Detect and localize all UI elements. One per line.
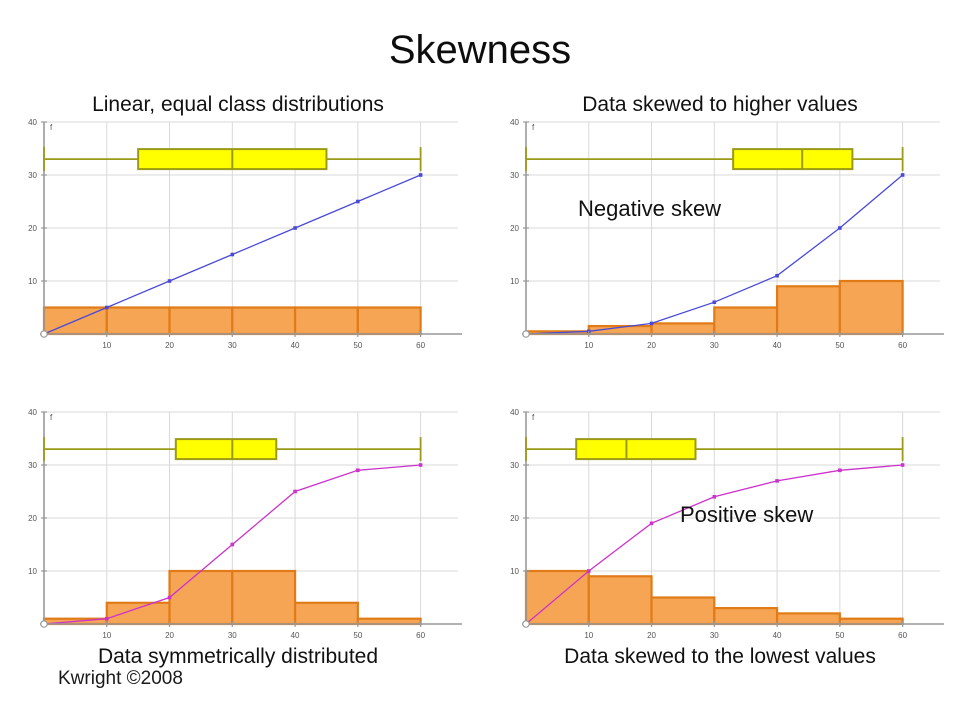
histogram-bar	[170, 571, 233, 624]
x-tick-label: 20	[647, 631, 656, 640]
data-point	[231, 543, 235, 547]
chart-panel-top-left: Linear, equal class distributions 102030…	[8, 92, 468, 377]
histogram-bar	[170, 308, 233, 335]
y-tick-label: 20	[510, 514, 519, 523]
histogram-bar	[777, 613, 840, 624]
x-tick-label: 20	[165, 631, 174, 640]
plot-top-left: 10203040102030405060f	[8, 114, 468, 364]
y-tick-label: 40	[28, 408, 37, 417]
boxplot	[44, 437, 421, 461]
x-tick-label: 10	[584, 341, 593, 350]
x-tick-label: 40	[773, 341, 782, 350]
x-tick-label: 30	[710, 341, 719, 350]
chart-panel-bottom-left: 10203040102030405060f Data symmetrically…	[8, 382, 468, 667]
data-point	[775, 479, 779, 483]
y-tick-label: 20	[28, 224, 37, 233]
x-tick-label: 60	[416, 631, 425, 640]
x-tick-label: 50	[835, 341, 844, 350]
x-tick-label: 50	[835, 631, 844, 640]
x-tick-label: 10	[102, 631, 111, 640]
slide-canvas: Skewness Linear, equal class distributio…	[0, 0, 960, 720]
histogram-bar	[295, 603, 358, 624]
histogram-bar	[232, 308, 295, 335]
annotation-positive-skew: Positive skew	[680, 502, 813, 528]
x-tick-label: 50	[353, 341, 362, 350]
data-point	[419, 463, 423, 467]
data-point	[901, 173, 905, 177]
y-tick-label: 20	[28, 514, 37, 523]
page-title: Skewness	[0, 26, 960, 74]
data-point	[419, 173, 423, 177]
y-tick-label: 10	[510, 567, 519, 576]
y-tick-label: 40	[28, 118, 37, 127]
x-tick-label: 60	[898, 631, 907, 640]
chart-caption-bottom-right: Data skewed to the lowest values	[490, 644, 950, 669]
y-axis-label: f	[50, 413, 53, 422]
boxplot-box	[576, 439, 695, 459]
y-tick-label: 20	[510, 224, 519, 233]
x-tick-label: 20	[647, 341, 656, 350]
x-tick-label: 40	[773, 631, 782, 640]
y-tick-label: 10	[510, 277, 519, 286]
y-axis-label: f	[532, 413, 535, 422]
histogram-bars	[44, 571, 421, 624]
slide-footer-credit: Kwright ©2008	[58, 668, 183, 690]
y-tick-label: 30	[510, 171, 519, 180]
histogram-bars	[44, 308, 421, 335]
data-point	[901, 463, 905, 467]
data-point	[231, 253, 235, 257]
x-tick-label: 40	[291, 341, 300, 350]
origin-marker	[41, 621, 47, 627]
histogram-bar	[840, 281, 903, 334]
x-tick-label: 60	[416, 341, 425, 350]
data-point	[105, 306, 109, 310]
data-point	[356, 469, 360, 473]
data-point	[650, 522, 654, 526]
data-point	[168, 279, 172, 283]
data-point	[293, 490, 297, 494]
y-tick-label: 30	[28, 171, 37, 180]
x-tick-label: 10	[102, 341, 111, 350]
data-point	[838, 469, 842, 473]
histogram-bar	[295, 308, 358, 335]
y-axis-label: f	[50, 123, 53, 132]
x-tick-label: 10	[584, 631, 593, 640]
plot-bottom-left: 10203040102030405060f	[8, 404, 468, 654]
histogram-bar	[714, 608, 777, 624]
x-tick-label: 40	[291, 631, 300, 640]
y-tick-label: 10	[28, 277, 37, 286]
data-point	[838, 226, 842, 230]
chart-svg-bottom-right: 10203040102030405060f	[490, 404, 950, 654]
x-tick-label: 50	[353, 631, 362, 640]
histogram-bar	[358, 308, 421, 335]
data-point	[105, 617, 109, 621]
chart-svg-top-left: 10203040102030405060f	[8, 114, 468, 364]
boxplot-box	[176, 439, 276, 459]
boxplot	[44, 147, 421, 171]
x-tick-label: 20	[165, 341, 174, 350]
y-tick-label: 40	[510, 118, 519, 127]
plot-bottom-right: 10203040102030405060f	[490, 404, 950, 654]
data-point	[587, 569, 591, 573]
histogram-bar	[652, 598, 715, 625]
chart-caption-bottom-left: Data symmetrically distributed	[8, 644, 468, 669]
y-tick-label: 30	[28, 461, 37, 470]
x-tick-label: 30	[710, 631, 719, 640]
y-axis-label: f	[532, 123, 535, 132]
y-tick-label: 40	[510, 408, 519, 417]
plot-top-right: 10203040102030405060f	[490, 114, 950, 364]
chart-svg-top-right: 10203040102030405060f	[490, 114, 950, 364]
histogram-bar	[714, 308, 777, 335]
origin-marker	[41, 331, 47, 337]
data-point	[168, 596, 172, 600]
data-point	[713, 495, 717, 499]
histogram-bar	[107, 308, 170, 335]
data-point	[713, 300, 717, 304]
x-tick-label: 30	[228, 631, 237, 640]
data-point	[293, 226, 297, 230]
histogram-bar	[652, 323, 715, 334]
chart-panel-top-right: Data skewed to higher values 10203040102…	[490, 92, 950, 377]
x-tick-label: 60	[898, 341, 907, 350]
x-tick-label: 30	[228, 341, 237, 350]
data-point	[775, 274, 779, 278]
chart-svg-bottom-left: 10203040102030405060f	[8, 404, 468, 654]
boxplot-box	[733, 149, 852, 169]
histogram-bar	[107, 603, 170, 624]
histogram-bar	[589, 576, 652, 624]
annotation-negative-skew: Negative skew	[578, 196, 721, 222]
histogram-bar	[777, 286, 840, 334]
origin-marker	[523, 331, 529, 337]
y-tick-label: 10	[28, 567, 37, 576]
chart-panel-bottom-right: 10203040102030405060f Positive skew Data…	[490, 382, 950, 667]
y-tick-label: 30	[510, 461, 519, 470]
data-point	[356, 200, 360, 204]
histogram-bar	[232, 571, 295, 624]
data-point	[650, 322, 654, 326]
origin-marker	[523, 621, 529, 627]
